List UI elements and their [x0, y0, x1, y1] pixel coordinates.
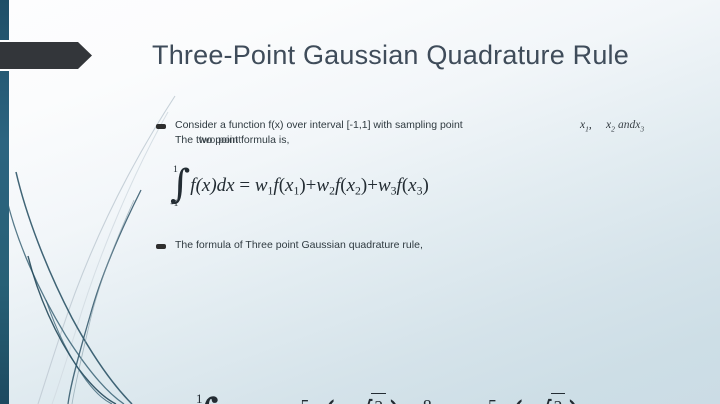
sqrt-3-over-5-positive: √35: [526, 393, 565, 404]
eq1-term-1: w1f(x1): [255, 175, 306, 196]
equation-two-point-formula: 1 ∫ -1 f(x)dx = w1f(x1)+w2f(x2)+w3f(x3): [170, 170, 429, 203]
bullet-item-1: Consider a function f(x) over interval […: [150, 118, 710, 148]
arrow-banner-shape: [0, 42, 92, 69]
integral-symbol-1: 1 ∫ -1: [170, 170, 190, 203]
bullet-1-line-2-overlap: two point: [199, 133, 241, 148]
dash-marker-icon: [156, 244, 166, 249]
coefficient-8-9: 89: [421, 394, 434, 404]
bullet-item-2: The formula of Three point Gaussian quad…: [150, 238, 710, 253]
equation-three-point-gaussian: ∴ 1 ∫ -1 f(x)dx =59f(-√35)+89f(0)+59f(√3…: [170, 393, 585, 404]
slide-body: Consider a function f(x) over interval […: [150, 118, 710, 398]
variable-x1: x1,: [580, 119, 592, 133]
variable-x3-and: andx3: [618, 119, 644, 133]
bullet-2-line-1: The formula of Three point Gaussian quad…: [175, 238, 710, 253]
eq1-term-2: w2f(x2): [316, 175, 367, 196]
variable-x2: x2: [606, 119, 615, 133]
dash-marker-icon: [156, 124, 166, 129]
slide-canvas: Three-Point Gaussian Quadrature Rule Con…: [0, 0, 720, 404]
coefficient-5-9-b: 59: [486, 394, 499, 404]
sampling-point-variables: x1, x2 andx3: [580, 119, 710, 135]
coefficient-5-9-a: 59: [299, 394, 312, 404]
eq1-term-3: w3f(x3): [378, 175, 429, 196]
sqrt-3-over-5-negative: √35: [347, 393, 386, 404]
page-title: Three-Point Gaussian Quadrature Rule: [152, 38, 692, 72]
integral-symbol-2: 1 ∫ -1: [192, 399, 219, 404]
